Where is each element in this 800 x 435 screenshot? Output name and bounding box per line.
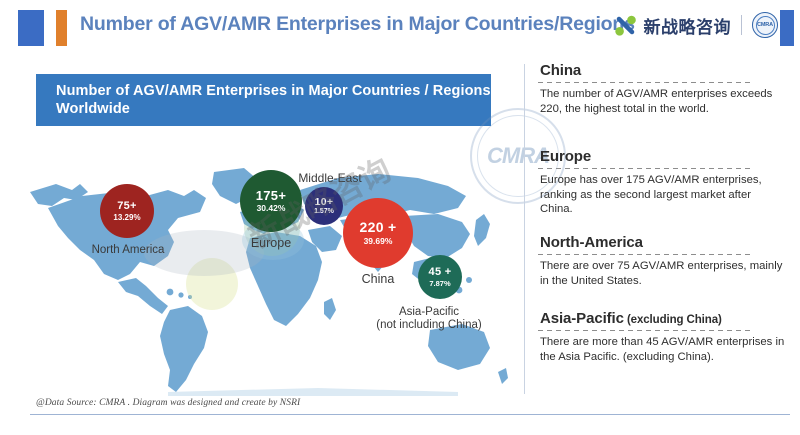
map-label-asia-pacific: Asia-Pacific (not including China)	[340, 306, 508, 332]
map-label-china: China	[328, 273, 428, 286]
bubble-share: 13.29%	[113, 214, 140, 222]
map-label-asia-pacific-line2: (not including China)	[376, 319, 481, 331]
bubble-value: 75+	[117, 201, 137, 212]
world-map: 75+ 13.29% North America 175+ 30.42% Eur…	[18, 134, 508, 396]
slide-root: Number of AGV/AMR Enterprises in Major C…	[0, 0, 800, 435]
panel-section-north-america: North-America There are over 75 AGV/AMR …	[536, 234, 786, 288]
map-label-europe: Europe	[221, 237, 321, 250]
data-source-note: @Data Source: CMRA . Diagram was designe…	[36, 398, 300, 408]
logo-divider	[741, 15, 742, 35]
section-body: There are over 75 AGV/AMR enterprises, m…	[540, 259, 786, 288]
section-heading: China	[540, 62, 786, 79]
cmra-seal-label: CMRA	[757, 22, 773, 28]
brand-logo-text: 新战略咨询	[644, 13, 732, 38]
x-cross-logo-icon	[614, 14, 637, 37]
section-body: The number of AGV/AMR enterprises exceed…	[540, 87, 786, 116]
footer-divider	[30, 414, 790, 415]
bubble-value: 45 +	[429, 267, 452, 278]
bubble-china[interactable]: 220 + 39.69%	[343, 198, 413, 268]
header-accent-right	[780, 10, 794, 46]
info-panel: China The number of AGV/AMR enterprises …	[536, 62, 792, 398]
section-heading-sub: (excluding China)	[624, 314, 722, 326]
panel-section-europe: Europe Europe has over 175 AGV/AMR enter…	[536, 148, 786, 217]
brand-logo: 新战略咨询 CMRA	[614, 12, 779, 38]
section-divider	[538, 330, 750, 331]
section-divider	[538, 168, 750, 169]
map-title-banner: Number of AGV/AMR Enterprises in Major C…	[36, 74, 491, 126]
page-title: Number of AGV/AMR Enterprises in Major C…	[80, 13, 635, 36]
bubble-share: 39.69%	[364, 237, 393, 246]
bubble-value: 10+	[315, 197, 334, 208]
section-body: Europe has over 175 AGV/AMR enterprises,…	[540, 173, 786, 217]
header-bar: Number of AGV/AMR Enterprises in Major C…	[0, 0, 800, 56]
bubble-value: 220 +	[360, 220, 397, 234]
section-heading: Asia-Pacific (excluding China)	[540, 310, 786, 327]
section-body: There are more than 45 AGV/AMR enterpris…	[540, 335, 786, 364]
section-divider	[538, 82, 750, 83]
bubble-share: 7.87%	[429, 280, 450, 288]
section-divider	[538, 254, 750, 255]
map-label-asia-pacific-line1: Asia-Pacific	[399, 306, 459, 318]
map-title-text: Number of AGV/AMR Enterprises in Major C…	[56, 82, 491, 118]
panel-divider	[524, 64, 525, 394]
panel-section-asia-pacific: Asia-Pacific (excluding China) There are…	[536, 310, 786, 364]
map-label-middle-east: Middle-East	[280, 172, 380, 185]
bubble-share: 30.42%	[257, 204, 286, 213]
bubble-north-america[interactable]: 75+ 13.29%	[100, 184, 154, 238]
map-label-north-america: North America	[56, 244, 200, 257]
bubble-share: 1.57%	[314, 208, 334, 215]
bubble-middle-east[interactable]: 10+ 1.57%	[305, 187, 343, 225]
section-heading: North-America	[540, 234, 786, 251]
header-accent-orange	[56, 10, 67, 46]
map-card: Number of AGV/AMR Enterprises in Major C…	[18, 64, 508, 396]
cmra-seal-icon: CMRA	[752, 12, 778, 38]
section-heading: Europe	[540, 148, 786, 165]
bubble-asia-pacific[interactable]: 45 + 7.87%	[418, 255, 462, 299]
panel-section-china: China The number of AGV/AMR enterprises …	[536, 62, 786, 116]
bubble-value: 175+	[256, 189, 286, 202]
header-accent-blue	[18, 10, 44, 46]
